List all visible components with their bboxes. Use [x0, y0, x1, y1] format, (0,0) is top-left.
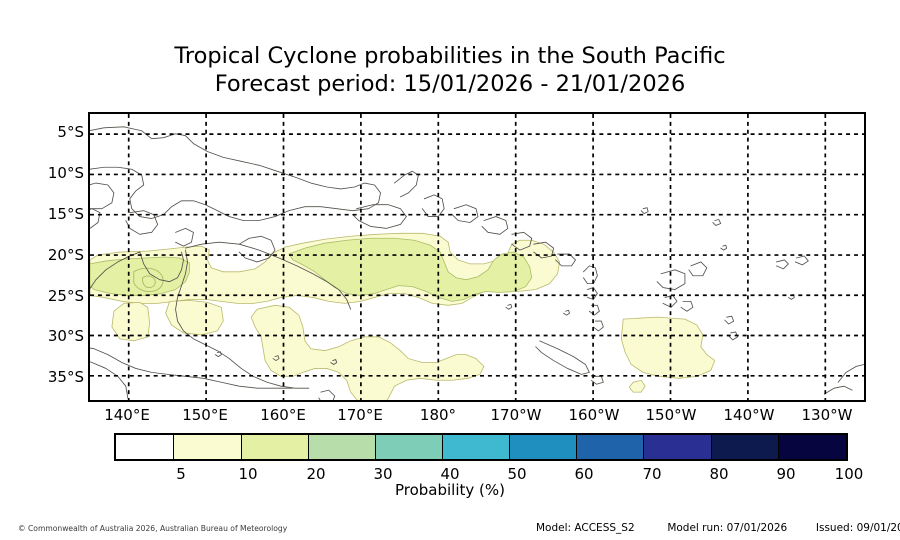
title-line-2: Forecast period: 15/01/2026 - 21/01/2026: [0, 70, 900, 98]
x-tick-150E: 150°E: [182, 408, 228, 423]
cbar-swatch-70-80: [644, 435, 711, 459]
x-tick-170E: 170°E: [337, 408, 383, 423]
y-tick-20S: 20°S: [4, 248, 84, 263]
cbar-swatch-10-20: [242, 435, 309, 459]
y-tick-30S: 30°S: [4, 329, 84, 344]
model-run-date: Model run: 07/01/2026: [667, 522, 787, 535]
cbar-swatch-50-60: [510, 435, 577, 459]
model-name: Model: ACCESS_S2: [536, 522, 635, 535]
cbar-swatch-30-40: [376, 435, 443, 459]
colorbar-title: Probability (%): [0, 482, 900, 499]
cbar-swatch-40-50: [443, 435, 510, 459]
forecast-map-page: Tropical Cyclone probabilities in the So…: [0, 0, 900, 540]
cbar-tick-40: 40: [440, 466, 459, 482]
map-canvas[interactable]: [88, 112, 866, 402]
cbar-tick-20: 20: [306, 466, 325, 482]
cbar-tick-30: 30: [373, 466, 392, 482]
y-tick-25S: 25°S: [4, 289, 84, 304]
cbar-swatch-0-5: [116, 435, 174, 459]
x-tick-140W: 140°W: [724, 408, 775, 423]
cbar-tick-60: 60: [574, 466, 593, 482]
cbar-tick-80: 80: [709, 466, 728, 482]
cbar-tick-90: 90: [776, 466, 795, 482]
x-tick-130W: 130°W: [802, 408, 853, 423]
x-tick-160W: 160°W: [569, 408, 620, 423]
cbar-tick-10: 10: [238, 466, 257, 482]
y-tick-5S: 5°S: [4, 125, 84, 140]
cbar-tick-50: 50: [507, 466, 526, 482]
cbar-tick-5: 5: [176, 466, 186, 482]
cbar-tick-100: 100: [835, 466, 864, 482]
y-tick-10S: 10°S: [4, 166, 84, 181]
x-tick-170W: 170°W: [491, 408, 542, 423]
cbar-swatch-90-100: [779, 435, 846, 459]
cbar-swatch-5-10: [174, 435, 241, 459]
x-tick-160E: 160°E: [260, 408, 306, 423]
cbar-swatch-20-30: [309, 435, 376, 459]
map-gridlines: [90, 114, 864, 400]
x-axis-labels: 140°E 150°E 160°E 170°E 180° 170°W 160°W…: [0, 408, 900, 430]
cbar-swatch-80-90: [712, 435, 779, 459]
x-tick-140E: 140°E: [104, 408, 150, 423]
map-svg: [90, 114, 864, 400]
issued-date: Issued: 09/01/2026: [816, 522, 900, 535]
cbar-tick-70: 70: [642, 466, 661, 482]
probability-colorbar[interactable]: [114, 433, 848, 461]
y-tick-15S: 15°S: [4, 207, 84, 222]
cbar-swatch-60-70: [577, 435, 644, 459]
title-line-1: Tropical Cyclone probabilities in the So…: [0, 42, 900, 70]
copyright-notice: © Commonwealth of Australia 2026, Austra…: [18, 524, 287, 534]
y-axis-labels: 5°S 10°S 15°S 20°S 25°S 30°S 35°S: [0, 112, 84, 402]
x-tick-180: 180°: [420, 408, 456, 423]
run-metadata: Model: ACCESS_S2 Model run: 07/01/2026 I…: [536, 522, 886, 535]
y-tick-35S: 35°S: [4, 370, 84, 385]
page-title: Tropical Cyclone probabilities in the So…: [0, 42, 900, 98]
x-tick-150W: 150°W: [646, 408, 697, 423]
